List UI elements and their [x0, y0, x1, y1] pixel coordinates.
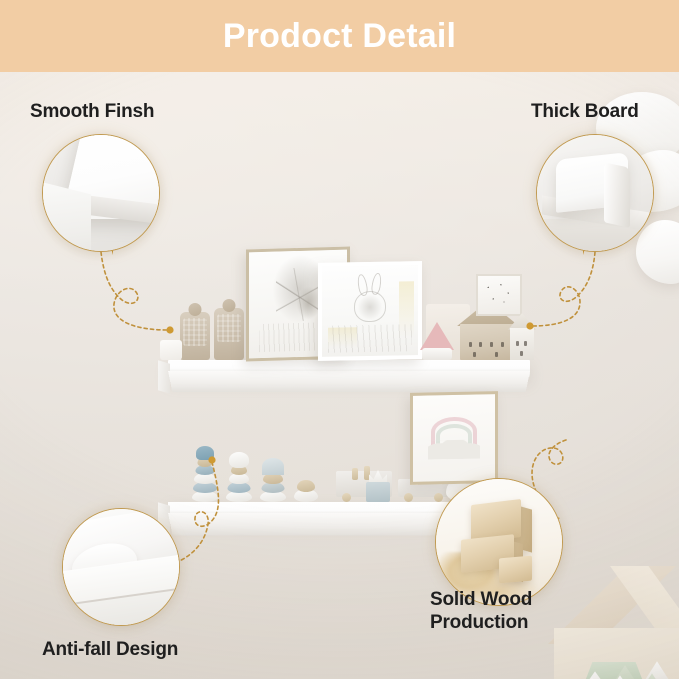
product-detail-infographic: Prodoct Detail: [0, 0, 679, 679]
callout-circle-anti-fall-design[interactable]: [62, 508, 180, 626]
callout-circle-solid-wood[interactable]: [435, 478, 563, 606]
knitted-jar-cover: [180, 312, 210, 360]
solid-wood-closeup: [436, 479, 562, 605]
pink-house-ornament: [420, 320, 454, 360]
rabbit-artwork-canvas: [322, 265, 418, 357]
callout-label-thick-board: Thick Board: [531, 100, 639, 123]
callout-label-solid-wood-production: Solid Wood Production: [430, 588, 532, 634]
callout-label-smooth-finish: Smooth Finsh: [30, 100, 154, 123]
dollhouse-shelf-furniture: [548, 566, 679, 679]
callout-label-anti-fall-design: Anti-fall Design: [42, 638, 178, 661]
callout-circle-thick-board[interactable]: [536, 134, 654, 252]
cup-stacking-toy: [294, 478, 318, 502]
miniature-house-tall: [510, 314, 534, 360]
crown-cup: [366, 468, 390, 502]
dotted-square-frame: [476, 274, 522, 316]
upper-shelf-items: [168, 242, 530, 360]
owl-stacking-toy: [226, 452, 252, 502]
knitted-jar-cover: [214, 308, 244, 360]
upper-shelf: [168, 360, 530, 378]
thick-board-closeup: [537, 135, 653, 251]
anti-fall-closeup: [63, 509, 179, 625]
rainbow-stacking-toy: [260, 456, 286, 502]
page-title: Prodoct Detail: [223, 19, 456, 53]
framed-rabbit-artwork: [318, 261, 422, 361]
blue-stacking-toy: [192, 448, 218, 502]
header-band: Prodoct Detail: [0, 0, 679, 72]
smooth-finish-closeup: [43, 135, 159, 251]
framed-rainbow-artwork: [410, 391, 498, 485]
house-block: [640, 674, 664, 679]
small-jar: [160, 340, 182, 360]
callout-circle-smooth-finish[interactable]: [42, 134, 160, 252]
